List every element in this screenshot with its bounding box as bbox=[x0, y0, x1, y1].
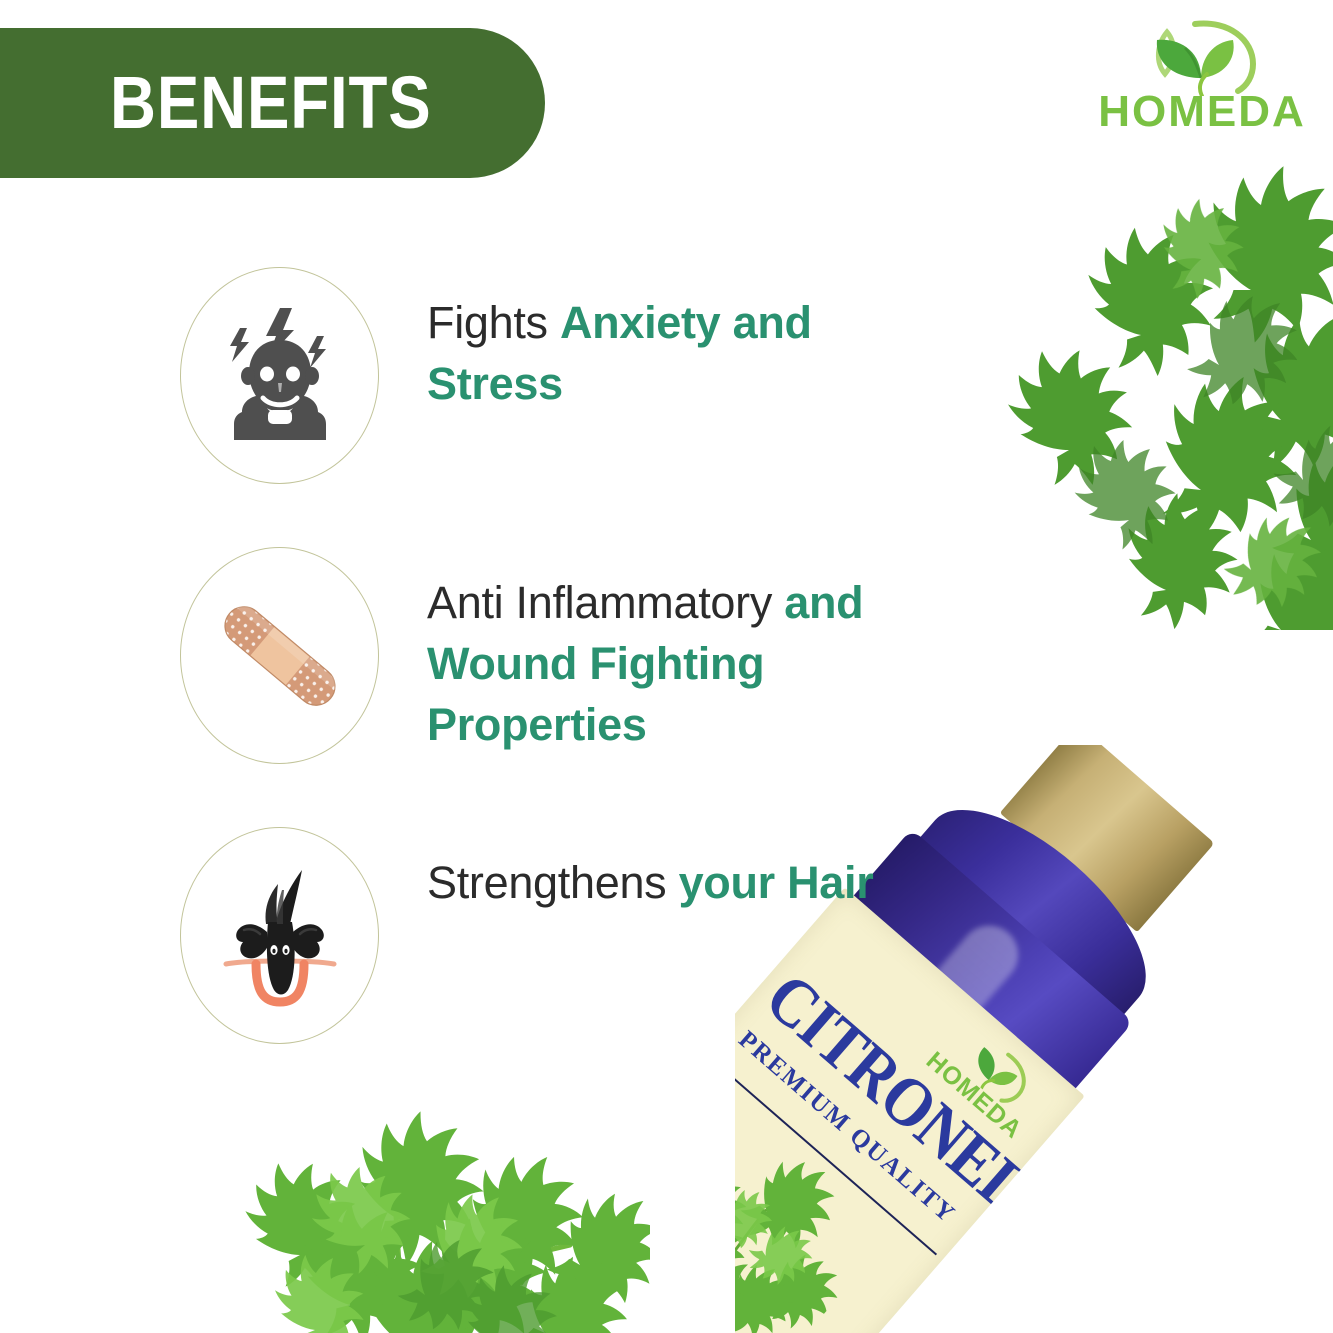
brand-logo: HOMEDA bbox=[1097, 18, 1307, 153]
benefit-label: Anti Inflammatory and Wound Fighting Pro… bbox=[427, 573, 920, 755]
leaf-sprout-icon bbox=[953, 1029, 1039, 1112]
label-brand-logo: HOMEDA bbox=[917, 1011, 1059, 1147]
label-footnote: Non GMO 100 bbox=[735, 1184, 824, 1333]
leaf-sprout-icon bbox=[1097, 18, 1307, 96]
label-plant-illustration bbox=[735, 1092, 897, 1333]
label-footnote-line-1: Non bbox=[735, 1184, 824, 1333]
benefit-icon-circle bbox=[180, 267, 379, 484]
benefit-plain-text: Fights bbox=[427, 297, 560, 348]
benefit-label: Fights Anxiety and Stress bbox=[427, 293, 920, 415]
bottle-cap bbox=[1000, 745, 1215, 932]
bandaid-icon bbox=[204, 580, 356, 732]
benefit-label: Strengthens your Hair bbox=[427, 853, 873, 914]
benefit-item-hair-strength: Strengthens your Hair bbox=[0, 805, 920, 1085]
label-brand-name: HOMEDA bbox=[917, 1044, 1030, 1147]
label-footnote-line-2: GMO bbox=[735, 1203, 808, 1333]
brand-name: HOMEDA bbox=[1097, 90, 1307, 134]
infographic-canvas: BENEFITS HOMEDA bbox=[0, 0, 1333, 1333]
benefit-item-anxiety-stress: Fights Anxiety and Stress bbox=[0, 245, 920, 525]
benefit-plain-text: Anti Inflammatory bbox=[427, 577, 784, 628]
benefit-plain-text: Strengthens bbox=[427, 857, 679, 908]
strong-hair-follicle-icon bbox=[204, 860, 356, 1012]
benefit-icon-circle bbox=[180, 547, 379, 764]
benefit-item-anti-inflammatory: Anti Inflammatory and Wound Fighting Pro… bbox=[0, 525, 920, 805]
benefit-highlight-text: your Hair bbox=[679, 857, 874, 908]
plant-top-right-decoration bbox=[951, 160, 1333, 630]
benefit-icon-circle bbox=[180, 827, 379, 1044]
benefits-list: Fights Anxiety and Stress bbox=[0, 245, 920, 1085]
plant-bottom-left-decoration bbox=[150, 1095, 650, 1333]
bottle-shoulder bbox=[910, 776, 1177, 1026]
page-title: BENEFITS bbox=[110, 66, 432, 140]
benefits-banner: BENEFITS bbox=[0, 28, 545, 178]
label-footnote-line-3: 100 bbox=[735, 1226, 788, 1333]
stressed-person-icon bbox=[204, 300, 356, 452]
label-divider bbox=[735, 1056, 937, 1256]
